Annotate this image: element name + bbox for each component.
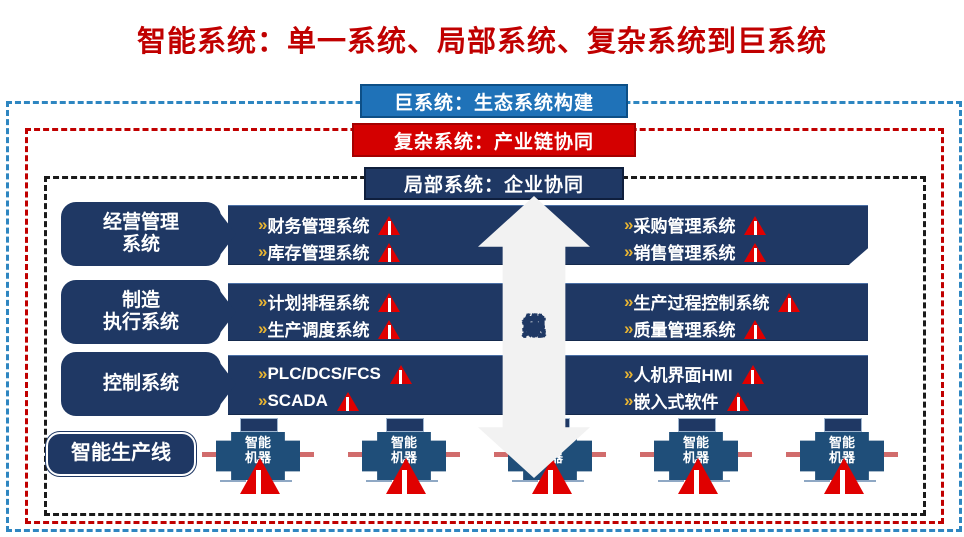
chevron-right-icon: » — [258, 391, 265, 411]
warning-triangle-icon — [727, 390, 749, 412]
smart-machine-node: 智能 机器 — [786, 418, 898, 496]
layer-label-control: 控制系统 — [62, 353, 220, 415]
banner-giant-system-label: 巨系统：生态系统构建 — [394, 88, 594, 115]
chevron-right-icon: » — [624, 364, 631, 384]
layer-label-mes: 制造 执行系统 — [62, 281, 220, 343]
production-line-label-text: 智能生产线 — [71, 442, 171, 466]
item-group-control-right: » 人机界面HMI » 嵌入式软件 — [624, 360, 764, 414]
banner-local-system: 局部系统：企业协同 — [364, 167, 624, 200]
warning-triangle-stem — [548, 470, 553, 494]
list-item-label: 采购管理系统 — [633, 212, 735, 237]
machine-label-line1: 智能 — [654, 436, 738, 451]
list-item: » 财务管理系统 — [258, 211, 400, 238]
warning-triangle-stem — [256, 470, 261, 494]
banner-complex-system-label: 复杂系统：产业链协同 — [394, 127, 594, 154]
page-title: 智能系统：单一系统、局部系统、复杂系统到巨系统 — [0, 18, 964, 60]
warning-triangle-icon — [378, 318, 400, 340]
chevron-right-icon: » — [624, 242, 631, 262]
layer-label-management-line1: 经营管理 — [103, 212, 179, 234]
list-item: » 采购管理系统 — [624, 211, 766, 238]
chevron-right-icon: » — [624, 292, 631, 312]
list-item-label: SCADA — [267, 391, 327, 411]
warning-triangle-icon — [378, 214, 400, 236]
machine-label-line1: 智能 — [216, 436, 300, 451]
machine-port-right — [590, 452, 606, 457]
list-item-label: 嵌入式软件 — [633, 388, 718, 413]
list-item-label: 库存管理系统 — [267, 239, 369, 264]
warning-triangle-stem — [402, 470, 407, 494]
machine-cap — [240, 418, 278, 432]
list-item-label: 生产调度系统 — [267, 316, 369, 341]
warning-triangle-icon — [744, 214, 766, 236]
chevron-right-icon: » — [258, 364, 265, 384]
list-item-label: 人机界面HMI — [633, 361, 732, 386]
warning-triangle-icon — [778, 291, 800, 313]
banner-giant-system: 巨系统：生态系统构建 — [360, 84, 628, 118]
list-item: » 嵌入式软件 — [624, 387, 764, 414]
warning-triangle-icon — [378, 291, 400, 313]
list-item: » 质量管理系统 — [624, 315, 800, 342]
machine-cap — [824, 418, 862, 432]
item-group-management-right: » 采购管理系统 » 销售管理系统 — [624, 211, 766, 265]
warning-triangle-icon — [337, 390, 359, 412]
chevron-right-icon: » — [258, 242, 265, 262]
banner-local-system-label: 局部系统：企业协同 — [404, 170, 584, 197]
list-item: » 人机界面HMI — [624, 360, 764, 387]
list-item: » 库存管理系统 — [258, 238, 400, 265]
list-item: » 销售管理系统 — [624, 238, 766, 265]
list-item: » SCADA — [258, 387, 412, 414]
diagram-canvas: 智能系统：单一系统、局部系统、复杂系统到巨系统 巨系统：生态系统构建 复杂系统：… — [0, 0, 964, 537]
layer-label-management: 经营管理 系统 — [62, 203, 220, 265]
warning-triangle-icon — [390, 363, 412, 385]
production-line-label: 智能生产线 — [46, 432, 196, 476]
list-item: » 计划排程系统 — [258, 288, 400, 315]
machine-port-right — [444, 452, 460, 457]
list-item-label: 计划排程系统 — [267, 289, 369, 314]
chevron-right-icon: » — [624, 319, 631, 339]
machine-label-line1: 智能 — [800, 436, 884, 451]
chevron-right-icon: » — [258, 215, 265, 235]
list-item: » 生产过程控制系统 — [624, 288, 800, 315]
chevron-right-icon: » — [258, 319, 265, 339]
warning-triangle-stem — [694, 470, 699, 494]
warning-triangle-icon — [378, 241, 400, 263]
warning-triangle-icon — [744, 241, 766, 263]
layer-label-mes-line2: 执行系统 — [103, 312, 179, 334]
warning-triangle-icon — [742, 363, 764, 385]
machine-label-line1: 智能 — [362, 436, 446, 451]
machine-cap — [678, 418, 716, 432]
list-item: » 生产调度系统 — [258, 315, 400, 342]
item-group-mes-right: » 生产过程控制系统 » 质量管理系统 — [624, 288, 800, 342]
list-item: » PLC/DCS/FCS — [258, 360, 412, 387]
list-item-label: 销售管理系统 — [633, 239, 735, 264]
item-group-mes-left: » 计划排程系统 » 生产调度系统 — [258, 288, 400, 342]
banner-complex-system: 复杂系统：产业链协同 — [352, 123, 636, 157]
warning-triangle-icon — [744, 318, 766, 340]
list-item-label: PLC/DCS/FCS — [267, 364, 380, 384]
chevron-right-icon: » — [258, 292, 265, 312]
smart-machine-node: 智能 机器 — [348, 418, 460, 496]
chevron-right-icon: » — [624, 391, 631, 411]
list-item-label: 财务管理系统 — [267, 212, 369, 237]
chevron-right-icon: » — [624, 215, 631, 235]
smart-machine-node: 智能 机器 — [640, 418, 752, 496]
machine-port-right — [298, 452, 314, 457]
machine-cap — [386, 418, 424, 432]
smart-machine-node: 智能 机器 — [202, 418, 314, 496]
item-group-control-left: » PLC/DCS/FCS » SCADA — [258, 360, 412, 414]
layer-label-management-line2: 系统 — [103, 234, 179, 256]
layer-label-mes-line1: 制造 — [103, 290, 179, 312]
list-item-label: 质量管理系统 — [633, 316, 735, 341]
machine-port-right — [736, 452, 752, 457]
machine-port-right — [882, 452, 898, 457]
list-item-label: 生产过程控制系统 — [633, 289, 769, 314]
layer-label-control-line1: 控制系统 — [103, 373, 179, 395]
warning-triangle-stem — [840, 470, 845, 494]
item-group-management-left: » 财务管理系统 » 库存管理系统 — [258, 211, 400, 265]
